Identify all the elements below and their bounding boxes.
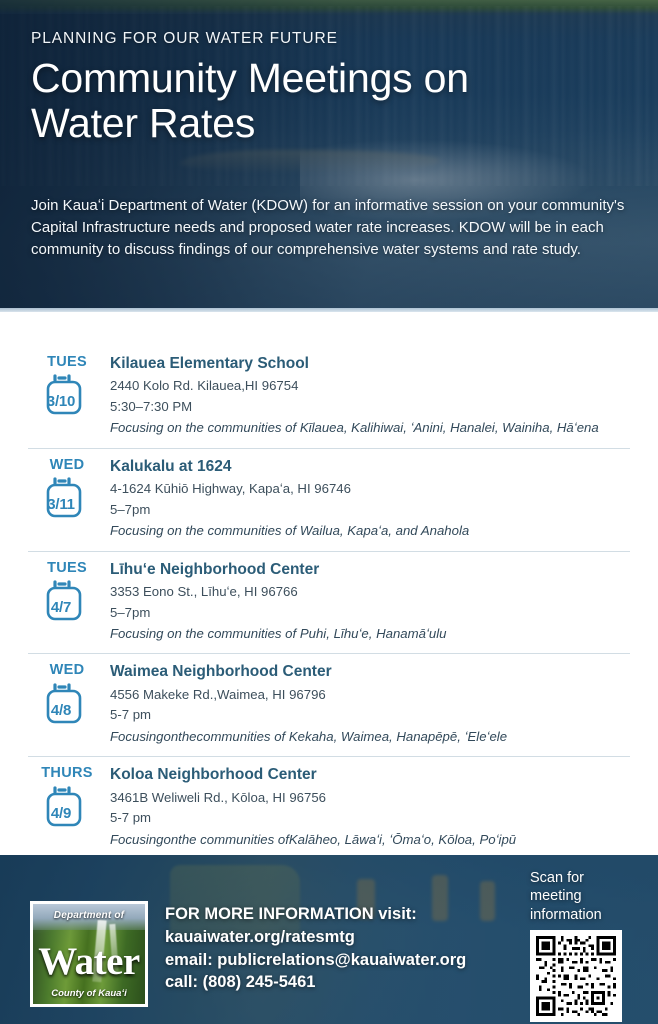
page-title-line-1: Community Meetings on: [31, 55, 469, 101]
contact-email[interactable]: email: publicrelations@kauaiwater.org: [165, 949, 466, 972]
meeting-time: 5:30–7:30 PM: [110, 397, 630, 417]
meeting-row[interactable]: THURS 4/9 Koloa Neighborhood Center 3461…: [28, 757, 630, 860]
logo-line-3: County of Kauaʻi: [33, 988, 145, 999]
meeting-dayname: TUES: [47, 354, 87, 371]
logo-line-1: Department of: [33, 910, 145, 921]
calendar-icon: 3/11: [42, 477, 92, 521]
meeting-venue: Līhuʻe Neighborhood Center: [110, 559, 630, 581]
meeting-row[interactable]: WED 4/8 Waimea Neighborhood Center 4556 …: [28, 654, 630, 757]
meeting-venue: Kilauea Elementary School: [110, 353, 630, 375]
meeting-date: 4/8: [30, 702, 92, 719]
meeting-address: 3353 Eono St., Līhuʻe, HI 96766: [110, 582, 630, 602]
meeting-dayname: WED: [50, 662, 85, 679]
meeting-info-column: Koloa Neighborhood Center 3461B Weliweli…: [106, 764, 630, 850]
contact-heading: FOR MORE INFORMATION visit:: [165, 903, 466, 926]
meeting-address: 4-1624 Kūhiō Highway, Kapaʻa, HI 96746: [110, 479, 630, 499]
meeting-date: 4/9: [30, 805, 92, 822]
meeting-focus: Focusingonthecommunities of Kekaha, Waim…: [110, 727, 630, 747]
meetings-list: TUES 3/10 Kilauea Elementary School 2440…: [0, 312, 658, 860]
qr-caption: Scan for meeting information: [530, 869, 634, 924]
meeting-focus: Focusingonthe communities ofKalāheo, Lāw…: [110, 830, 630, 850]
meeting-dayname: THURS: [41, 765, 92, 782]
meeting-focus: Focusing on the communities of Wailua, K…: [110, 521, 630, 541]
meeting-row[interactable]: TUES 3/10 Kilauea Elementary School 2440…: [28, 346, 630, 449]
meeting-venue: Kalukalu at 1624: [110, 456, 630, 478]
contact-phone[interactable]: call: (808) 245-5461: [165, 971, 466, 994]
meeting-date-column: TUES 4/7: [28, 559, 106, 624]
meeting-address: 2440 Kolo Rd. Kilauea,HI 96754: [110, 376, 630, 396]
hero-text-block: PLANNING FOR OUR WATER FUTURE Community …: [31, 30, 631, 146]
logo-line-2: Water: [33, 942, 145, 981]
meeting-date-column: TUES 3/10: [28, 353, 106, 418]
meeting-date: 3/11: [30, 496, 92, 513]
qr-code[interactable]: [530, 930, 622, 1022]
hero-description: Join Kauaʻi Department of Water (KDOW) f…: [31, 195, 631, 262]
meeting-row[interactable]: WED 3/11 Kalukalu at 1624 4-1624 Kūhiō H…: [28, 449, 630, 552]
hero-banner: PLANNING FOR OUR WATER FUTURE Community …: [0, 0, 658, 312]
hero-bottom-rule: [0, 308, 658, 312]
meeting-venue: Waimea Neighborhood Center: [110, 661, 630, 683]
meeting-date-column: WED 4/8: [28, 661, 106, 726]
meeting-info-column: Kilauea Elementary School 2440 Kolo Rd. …: [106, 353, 630, 439]
meeting-focus: Focusing on the communities of Puhi, Līh…: [110, 624, 630, 644]
meeting-info-column: Līhuʻe Neighborhood Center 3353 Eono St.…: [106, 559, 630, 645]
meeting-address: 4556 Makeke Rd.,Waimea, HI 96796: [110, 685, 630, 705]
calendar-icon: 4/7: [42, 580, 92, 624]
meeting-time: 5-7 pm: [110, 705, 630, 725]
meeting-time: 5–7pm: [110, 603, 630, 623]
calendar-icon: 3/10: [42, 374, 92, 418]
calendar-icon: 4/8: [42, 683, 92, 727]
footer-banner: Department of Water County of Kauaʻi FOR…: [0, 855, 658, 1024]
calendar-icon: 4/9: [42, 786, 92, 830]
page-title-line-2: Water Rates: [31, 100, 255, 146]
hero-eyebrow: PLANNING FOR OUR WATER FUTURE: [31, 30, 631, 48]
meeting-focus: Focusing on the communities of Kīlauea, …: [110, 418, 630, 438]
meeting-time: 5–7pm: [110, 500, 630, 520]
meeting-date: 4/7: [30, 599, 92, 616]
contact-website[interactable]: kauaiwater.org/ratesmtg: [165, 926, 466, 949]
meeting-address: 3461B Weliweli Rd., Kōloa, HI 96756: [110, 788, 630, 808]
meeting-dayname: TUES: [47, 560, 87, 577]
meeting-info-column: Kalukalu at 1624 4-1624 Kūhiō Highway, K…: [106, 456, 630, 542]
qr-block: Scan for meeting information: [530, 869, 634, 1022]
department-of-water-logo: Department of Water County of Kauaʻi: [30, 901, 148, 1007]
meeting-date-column: THURS 4/9: [28, 764, 106, 829]
meeting-time: 5-7 pm: [110, 808, 630, 828]
meeting-venue: Koloa Neighborhood Center: [110, 764, 630, 786]
logo-artwork: Department of Water County of Kauaʻi: [33, 904, 145, 1004]
meeting-date-column: WED 3/11: [28, 456, 106, 521]
page-title: Community Meetings on Water Rates: [31, 56, 631, 146]
meeting-dayname: WED: [50, 457, 85, 474]
contact-block: FOR MORE INFORMATION visit: kauaiwater.o…: [165, 903, 466, 994]
meeting-date: 3/10: [30, 393, 92, 410]
meeting-info-column: Waimea Neighborhood Center 4556 Makeke R…: [106, 661, 630, 747]
meeting-row[interactable]: TUES 4/7 Līhuʻe Neighborhood Center 3353…: [28, 552, 630, 655]
